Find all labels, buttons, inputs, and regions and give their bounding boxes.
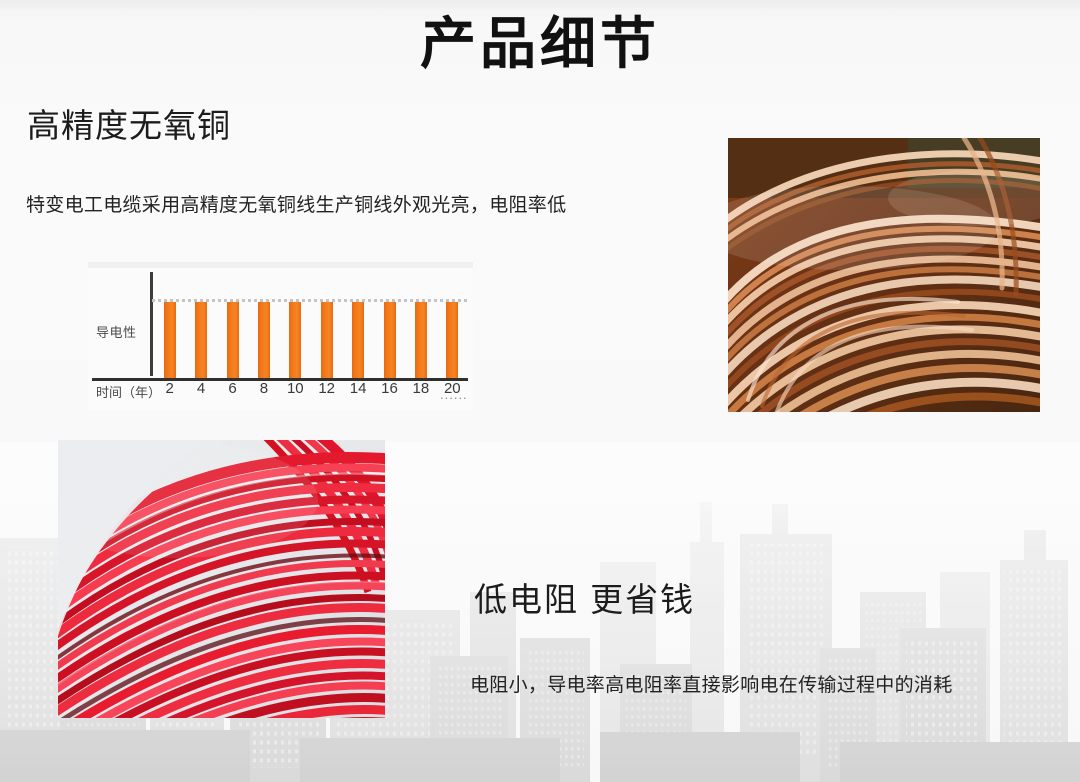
- chart-x-tick-label: 16: [373, 380, 407, 397]
- chart-x-tick-label: 6: [216, 380, 250, 397]
- chart-y-axis: [150, 272, 153, 376]
- copper-wire-photo: [728, 138, 1040, 412]
- chart-x-tick-label: 4: [184, 380, 218, 397]
- chart-bar: [258, 302, 270, 379]
- chart-bar: [321, 302, 333, 379]
- red-cable-photo: [58, 440, 385, 718]
- chart-x-tick-label: 18: [404, 380, 438, 397]
- chart-bar: [195, 302, 207, 379]
- chart-bar: [352, 302, 364, 379]
- chart-x-tick-label: 10: [278, 380, 312, 397]
- chart-y-axis-label: 导电性: [96, 322, 137, 341]
- chart-bar: [415, 302, 427, 379]
- chart-x-tick-label: 20: [435, 380, 469, 397]
- chart-x-axis-label: 时间（年）: [96, 382, 161, 401]
- chart-bar: [164, 302, 176, 379]
- chart-bar: [227, 302, 239, 379]
- section-heading-resistance: 低电阻 更省钱: [474, 578, 695, 622]
- page-title: 产品细节: [0, 8, 1080, 82]
- chart-x-tick-label: 12: [310, 380, 344, 397]
- chart-bar: [446, 302, 458, 379]
- section-heading-copper: 高精度无氧铜: [27, 104, 231, 148]
- chart-bars-group: [154, 302, 468, 379]
- chart-x-axis-ticks: 时间（年） ...... 2468101214161820: [88, 380, 473, 406]
- chart-x-tick-label: 14: [341, 380, 375, 397]
- chart-bar: [289, 302, 301, 379]
- conductivity-bar-chart: 导电性 时间（年） ...... 2468101214161820: [88, 262, 473, 410]
- chart-bar: [384, 302, 396, 379]
- chart-x-tick-label: 8: [247, 380, 281, 397]
- section-body-resistance: 电阻小，导电率高电阻率直接影响电在传输过程中的消耗: [470, 672, 953, 700]
- product-detail-page: 产品细节 高精度无氧铜 特变电工电缆采用高精度无氧铜线生产铜线外观光亮，电阻率低…: [0, 0, 1080, 782]
- section-body-copper: 特变电工电缆采用高精度无氧铜线生产铜线外观光亮，电阻率低: [26, 192, 566, 220]
- chart-x-tick-label: 2: [153, 380, 187, 397]
- chart-plot-area: 导电性: [88, 268, 473, 373]
